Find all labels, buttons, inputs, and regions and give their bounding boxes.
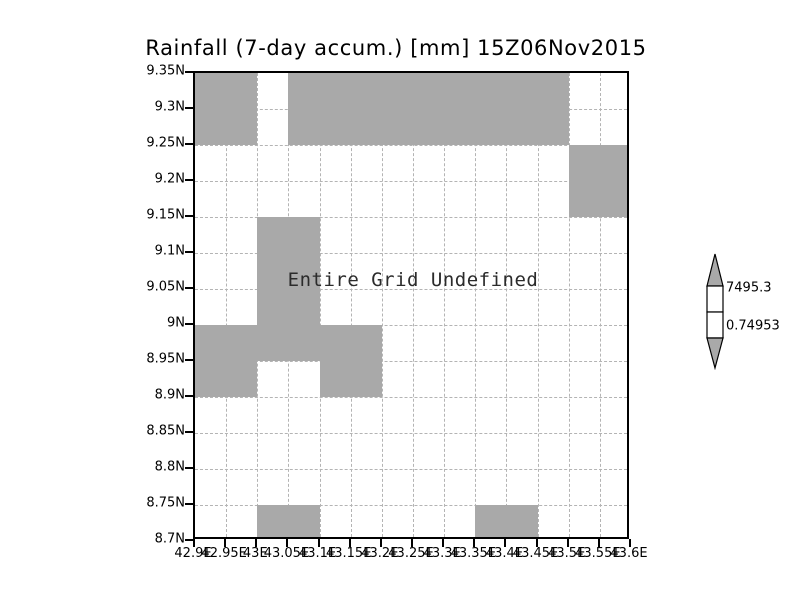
y-axis-tick-mark (185, 431, 193, 433)
y-axis-tick-label: 9.25N (146, 136, 185, 151)
y-axis-tick-mark (185, 215, 193, 217)
y-axis-tick-label: 8.9N (155, 388, 185, 403)
chart-title: Rainfall (7-day accum.) [mm] 15Z06Nov201… (0, 36, 792, 60)
y-axis-tick-label: 8.7N (155, 532, 185, 547)
y-axis-tick-label: 9.05N (146, 280, 185, 295)
y-axis-tick-mark (185, 395, 193, 397)
y-axis-tick-mark (185, 107, 193, 109)
x-axis-tick-label: 42.95E (201, 546, 246, 561)
y-axis-tick-mark (185, 287, 193, 289)
y-axis-tick-mark (185, 71, 193, 73)
colorbar-upper-label: 7495.3 (726, 281, 772, 296)
y-axis-tick-label: 9.1N (155, 244, 185, 259)
colorbar (702, 252, 728, 370)
y-axis-tick-label: 9.35N (146, 64, 185, 79)
colorbar-band-lower (707, 312, 723, 338)
y-axis-tick-mark (185, 467, 193, 469)
figure-canvas: Rainfall (7-day accum.) [mm] 15Z06Nov201… (0, 0, 792, 612)
y-axis-tick-label: 9.15N (146, 208, 185, 223)
y-axis-tick-label: 8.85N (146, 424, 185, 439)
colorbar-lower-label: 0.74953 (726, 319, 780, 334)
plot-area: Entire Grid Undefined (193, 71, 629, 539)
y-axis-labels: 9.35N9.3N9.25N9.2N9.15N9.1N9.05N9N8.95N8… (78, 71, 185, 539)
colorbar-lower-extend-triangle (707, 338, 723, 368)
y-axis-tick-mark (185, 179, 193, 181)
y-axis-tick-label: 9N (167, 316, 185, 331)
y-axis-tick-label: 9.3N (155, 100, 185, 115)
y-axis-tick-label: 8.95N (146, 352, 185, 367)
y-axis-tick-mark (185, 323, 193, 325)
y-axis-tick-label: 9.2N (155, 172, 185, 187)
y-axis-tick-label: 8.8N (155, 460, 185, 475)
y-axis-tick-label: 8.75N (146, 496, 185, 511)
y-axis-tick-mark (185, 359, 193, 361)
colorbar-band-upper (707, 286, 723, 312)
y-axis-tick-mark (185, 539, 193, 541)
colorbar-upper-extend-triangle (707, 254, 723, 286)
y-axis-tick-mark (185, 251, 193, 253)
colorbar-svg (702, 252, 728, 370)
plot-annotation-layer: Entire Grid Undefined (195, 73, 627, 537)
y-axis-tick-mark (185, 503, 193, 505)
y-axis-tick-mark (185, 143, 193, 145)
x-axis-tick-label: 43.6E (610, 546, 647, 561)
entire-grid-undefined-text: Entire Grid Undefined (195, 269, 629, 291)
